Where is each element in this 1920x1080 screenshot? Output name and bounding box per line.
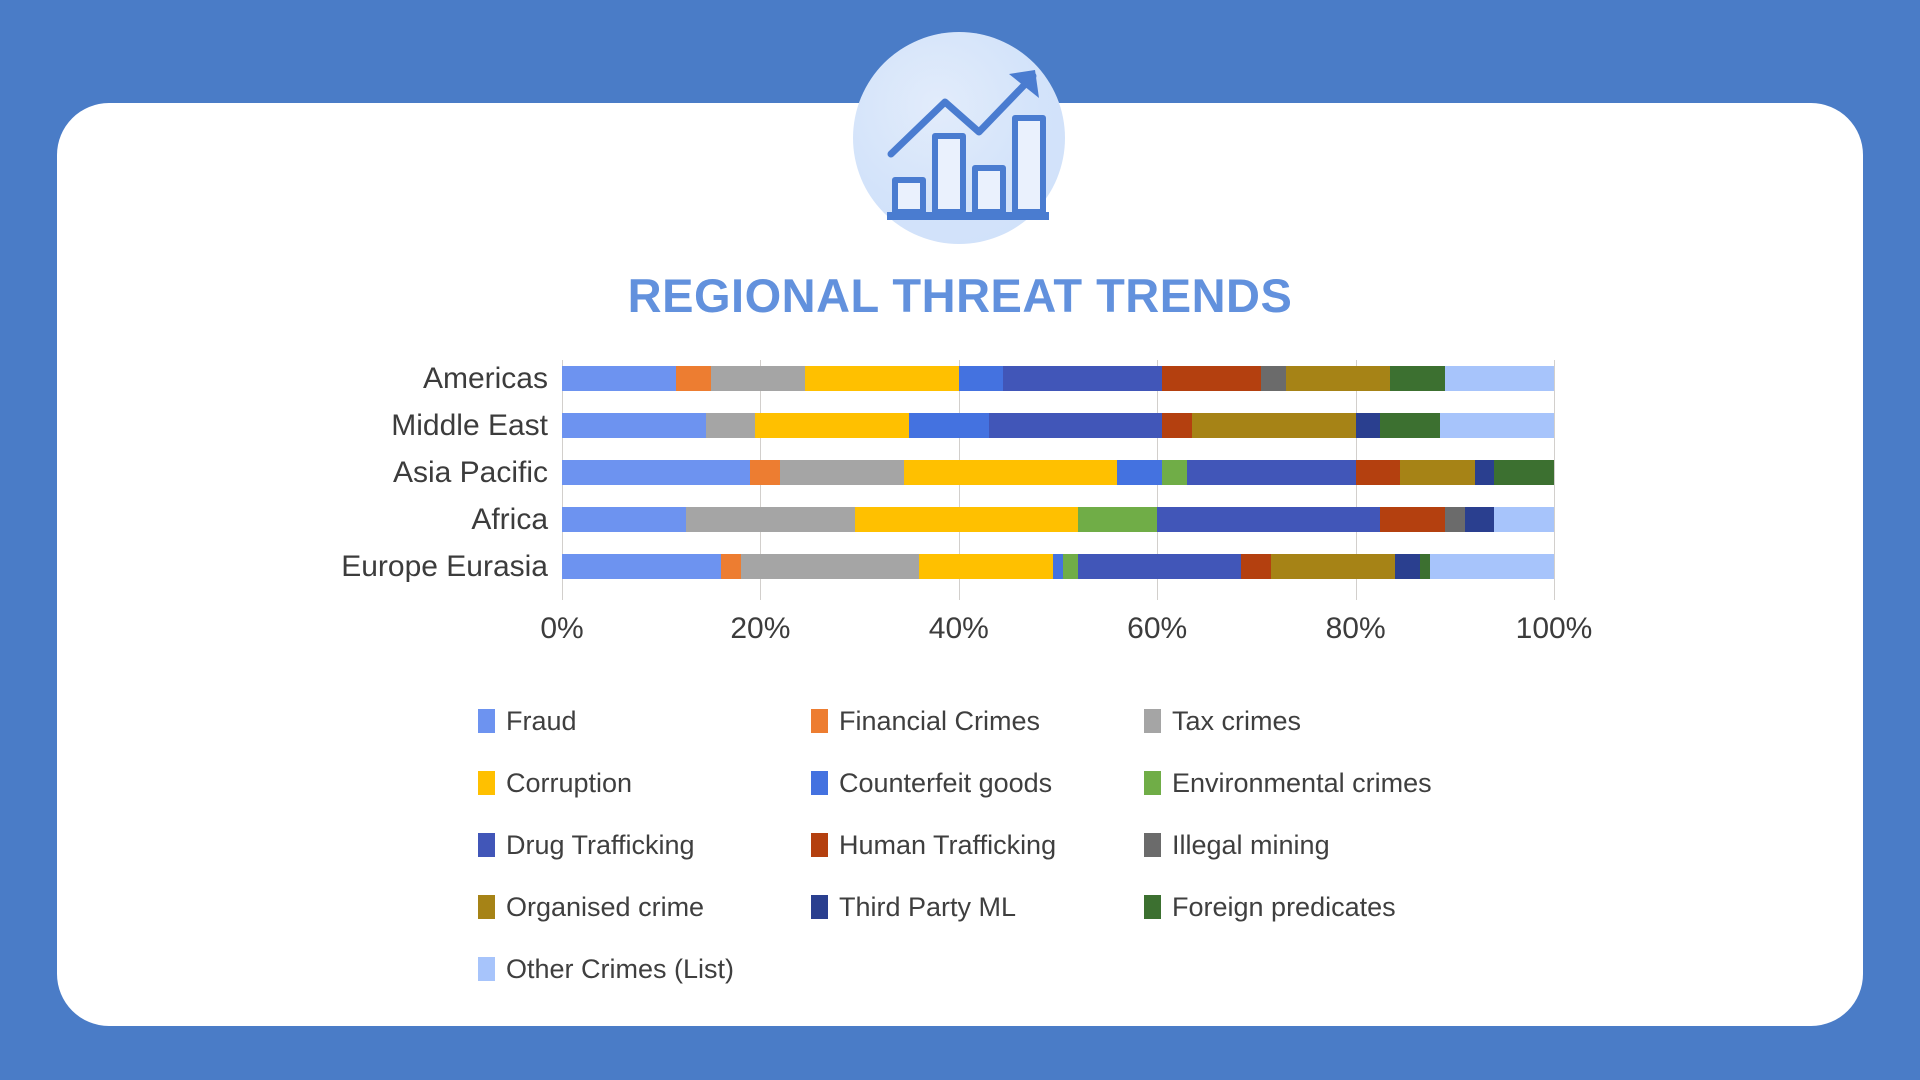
legend-item-organised-crime[interactable]: Organised crime xyxy=(478,892,811,923)
bar-segment[interactable] xyxy=(1475,460,1495,485)
stacked-bar-chart: AmericasMiddle EastAsia PacificAfricaEur… xyxy=(300,360,1620,610)
bar-segment[interactable] xyxy=(1157,507,1380,532)
bar-segment[interactable] xyxy=(1430,554,1554,579)
x-tick-80: 80% xyxy=(1326,612,1386,646)
legend-item-human-trafficking[interactable]: Human Trafficking xyxy=(811,830,1144,861)
bar-segment[interactable] xyxy=(562,507,686,532)
legend-row: Organised crimeThird Party MLForeign pre… xyxy=(478,876,1478,938)
bar-middle-east[interactable] xyxy=(562,413,1554,438)
bar-segment[interactable] xyxy=(780,460,904,485)
bar-segment[interactable] xyxy=(1078,554,1242,579)
legend-swatch-icon xyxy=(811,771,828,795)
bar-segment[interactable] xyxy=(562,366,676,391)
bar-segment[interactable] xyxy=(1261,366,1286,391)
legend-item-counterfeit-goods[interactable]: Counterfeit goods xyxy=(811,768,1144,799)
legend-label: Financial Crimes xyxy=(839,706,1040,737)
plot-area xyxy=(562,360,1554,600)
slide-root: REGIONAL THREAT TRENDS AmericasMiddle Ea… xyxy=(0,0,1920,1080)
bar-segment[interactable] xyxy=(562,460,750,485)
bar-segment[interactable] xyxy=(919,554,1053,579)
growth-chart-icon xyxy=(853,32,1065,244)
legend-label: Illegal mining xyxy=(1172,830,1330,861)
bar-segment[interactable] xyxy=(750,460,780,485)
bar-segment[interactable] xyxy=(1162,460,1187,485)
bar-segment[interactable] xyxy=(989,413,1163,438)
bar-segment[interactable] xyxy=(1380,507,1444,532)
bar-asia-pacific[interactable] xyxy=(562,460,1554,485)
bar-segment[interactable] xyxy=(562,413,706,438)
legend-row: CorruptionCounterfeit goodsEnvironmental… xyxy=(478,752,1478,814)
bar-segment[interactable] xyxy=(1400,460,1474,485)
bar-segment[interactable] xyxy=(755,413,909,438)
bar-segment[interactable] xyxy=(904,460,1117,485)
bar-segment[interactable] xyxy=(1395,554,1420,579)
bar-segment[interactable] xyxy=(959,366,1004,391)
x-tick-100: 100% xyxy=(1516,612,1593,646)
chart-legend: FraudFinancial CrimesTax crimesCorruptio… xyxy=(478,690,1478,1000)
legend-item-foreign-predicates[interactable]: Foreign predicates xyxy=(1144,892,1477,923)
x-tick-40: 40% xyxy=(929,612,989,646)
legend-swatch-icon xyxy=(478,709,495,733)
gridline xyxy=(1554,360,1555,600)
legend-label: Fraud xyxy=(506,706,577,737)
legend-item-financial-crimes[interactable]: Financial Crimes xyxy=(811,706,1144,737)
legend-swatch-icon xyxy=(1144,709,1161,733)
bar-segment[interactable] xyxy=(1380,413,1440,438)
legend-label: Corruption xyxy=(506,768,632,799)
legend-swatch-icon xyxy=(478,771,495,795)
bar-segment[interactable] xyxy=(1192,413,1356,438)
legend-swatch-icon xyxy=(1144,771,1161,795)
bar-segment[interactable] xyxy=(1440,413,1554,438)
y-axis-label-asia-pacific: Asia Pacific xyxy=(298,456,548,490)
legend-label: Organised crime xyxy=(506,892,704,923)
bar-segment[interactable] xyxy=(1162,366,1261,391)
bar-africa[interactable] xyxy=(562,507,1554,532)
legend-swatch-icon xyxy=(811,709,828,733)
legend-label: Human Trafficking xyxy=(839,830,1056,861)
bar-segment[interactable] xyxy=(1063,554,1078,579)
legend-item-corruption[interactable]: Corruption xyxy=(478,768,811,799)
bar-segment[interactable] xyxy=(1078,507,1157,532)
bar-segment[interactable] xyxy=(1445,507,1465,532)
y-axis-label-middle-east: Middle East xyxy=(298,409,548,443)
legend-label: Other Crimes (List) xyxy=(506,954,734,985)
bar-americas[interactable] xyxy=(562,366,1554,391)
page-title: REGIONAL THREAT TRENDS xyxy=(0,268,1920,323)
y-axis-label-europe-eurasia: Europe Eurasia xyxy=(298,550,548,584)
bar-europe-eurasia[interactable] xyxy=(562,554,1554,579)
legend-row: Other Crimes (List) xyxy=(478,938,1478,1000)
legend-item-environmental-crimes[interactable]: Environmental crimes xyxy=(1144,768,1477,799)
legend-item-drug-trafficking[interactable]: Drug Trafficking xyxy=(478,830,811,861)
bar-segment[interactable] xyxy=(1356,413,1381,438)
legend-item-third-party-ml[interactable]: Third Party ML xyxy=(811,892,1144,923)
legend-label: Foreign predicates xyxy=(1172,892,1396,923)
y-axis-label-americas: Americas xyxy=(298,362,548,396)
legend-item-fraud[interactable]: Fraud xyxy=(478,706,811,737)
bar-segment[interactable] xyxy=(1286,366,1390,391)
bar-segment[interactable] xyxy=(1390,366,1445,391)
bar-segment[interactable] xyxy=(562,554,721,579)
bar-segment[interactable] xyxy=(909,413,988,438)
legend-item-tax-crimes[interactable]: Tax crimes xyxy=(1144,706,1477,737)
bar-segment[interactable] xyxy=(855,507,1078,532)
bar-segment[interactable] xyxy=(1003,366,1162,391)
legend-swatch-icon xyxy=(811,833,828,857)
x-tick-20: 20% xyxy=(730,612,790,646)
bar-segment[interactable] xyxy=(1053,554,1063,579)
bar-segment[interactable] xyxy=(1420,554,1430,579)
bar-segment[interactable] xyxy=(1465,507,1495,532)
bar-segment[interactable] xyxy=(1162,413,1192,438)
bar-segment[interactable] xyxy=(741,554,920,579)
legend-item-illegal-mining[interactable]: Illegal mining xyxy=(1144,830,1477,861)
bar-segment[interactable] xyxy=(805,366,959,391)
bar-segment[interactable] xyxy=(1356,460,1401,485)
y-axis-category-labels: AmericasMiddle EastAsia PacificAfricaEur… xyxy=(300,360,562,600)
legend-swatch-icon xyxy=(1144,895,1161,919)
legend-item-other-crimes-list[interactable]: Other Crimes (List) xyxy=(478,954,811,985)
bar-segment[interactable] xyxy=(1241,554,1271,579)
legend-label: Third Party ML xyxy=(839,892,1016,923)
legend-swatch-icon xyxy=(1144,833,1161,857)
legend-label: Counterfeit goods xyxy=(839,768,1052,799)
legend-label: Drug Trafficking xyxy=(506,830,695,861)
bar-segment[interactable] xyxy=(1494,460,1554,485)
legend-swatch-icon xyxy=(478,957,495,981)
legend-row: Drug TraffickingHuman TraffickingIllegal… xyxy=(478,814,1478,876)
bar-segment[interactable] xyxy=(686,507,855,532)
y-axis-label-africa: Africa xyxy=(298,503,548,537)
legend-label: Tax crimes xyxy=(1172,706,1301,737)
bar-segment[interactable] xyxy=(1445,366,1554,391)
x-tick-0: 0% xyxy=(540,612,583,646)
bar-segment[interactable] xyxy=(676,366,711,391)
legend-label: Environmental crimes xyxy=(1172,768,1432,799)
bar-segment[interactable] xyxy=(1271,554,1395,579)
bar-segment[interactable] xyxy=(1187,460,1356,485)
legend-swatch-icon xyxy=(811,895,828,919)
legend-row: FraudFinancial CrimesTax crimes xyxy=(478,690,1478,752)
bar-segment[interactable] xyxy=(711,366,805,391)
x-axis-tick-labels: 0%20%40%60%80%100% xyxy=(562,600,1554,646)
bar-segment[interactable] xyxy=(1494,507,1554,532)
legend-swatch-icon xyxy=(478,895,495,919)
bar-segment[interactable] xyxy=(1117,460,1162,485)
x-tick-60: 60% xyxy=(1127,612,1187,646)
bar-segment[interactable] xyxy=(721,554,741,579)
legend-swatch-icon xyxy=(478,833,495,857)
bar-segment[interactable] xyxy=(706,413,756,438)
